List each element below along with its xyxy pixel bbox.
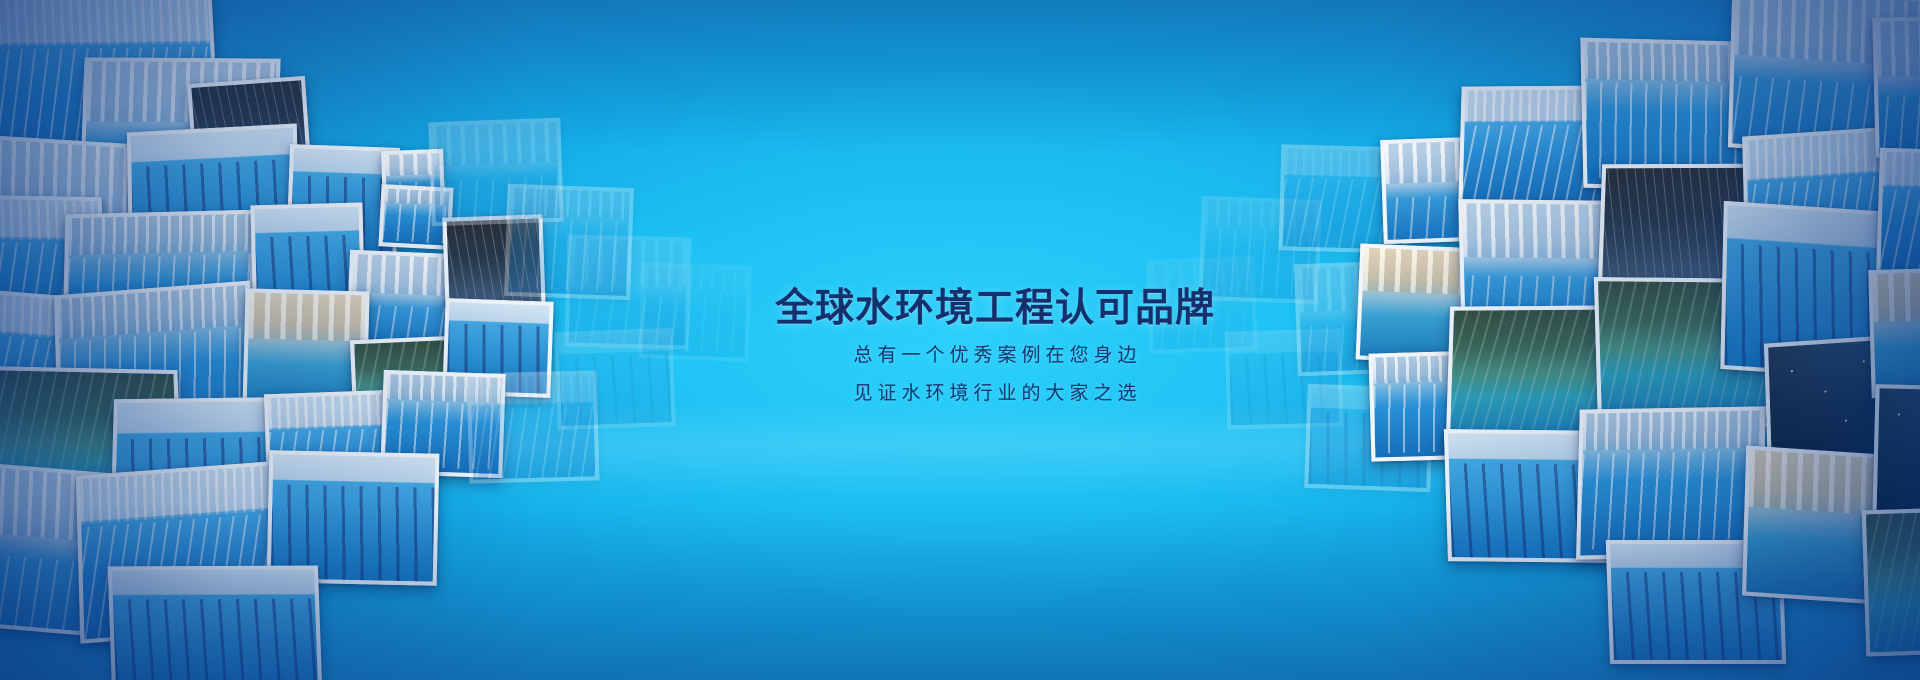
banner-subtitle-line-2: 见证水环境行业的大家之选 bbox=[760, 379, 1230, 408]
hero-banner: 全球水环境工程认可品牌 总有一个优秀案例在您身边 见证水环境行业的大家之选 bbox=[0, 0, 1920, 680]
banner-copy: 全球水环境工程认可品牌 总有一个优秀案例在您身边 见证水环境行业的大家之选 bbox=[760, 286, 1230, 409]
banner-subtitle-line-1: 总有一个优秀案例在您身边 bbox=[760, 341, 1230, 370]
banner-headline: 全球水环境工程认可品牌 bbox=[760, 286, 1230, 332]
